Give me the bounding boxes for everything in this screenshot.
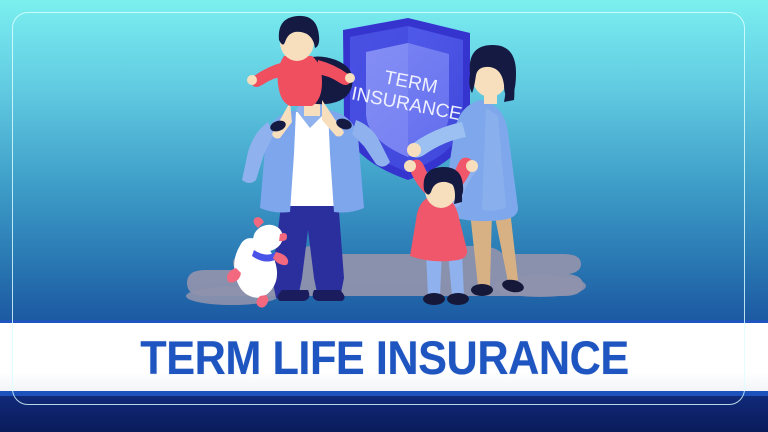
banner-white-band: TERM LIFE INSURANCE (0, 323, 768, 391)
illustration-canvas: TERM INSURANCE (0, 0, 768, 432)
banner-footer (0, 396, 768, 432)
title-banner: TERM LIFE INSURANCE (0, 320, 768, 432)
banner-title: TERM LIFE INSURANCE (140, 334, 629, 381)
